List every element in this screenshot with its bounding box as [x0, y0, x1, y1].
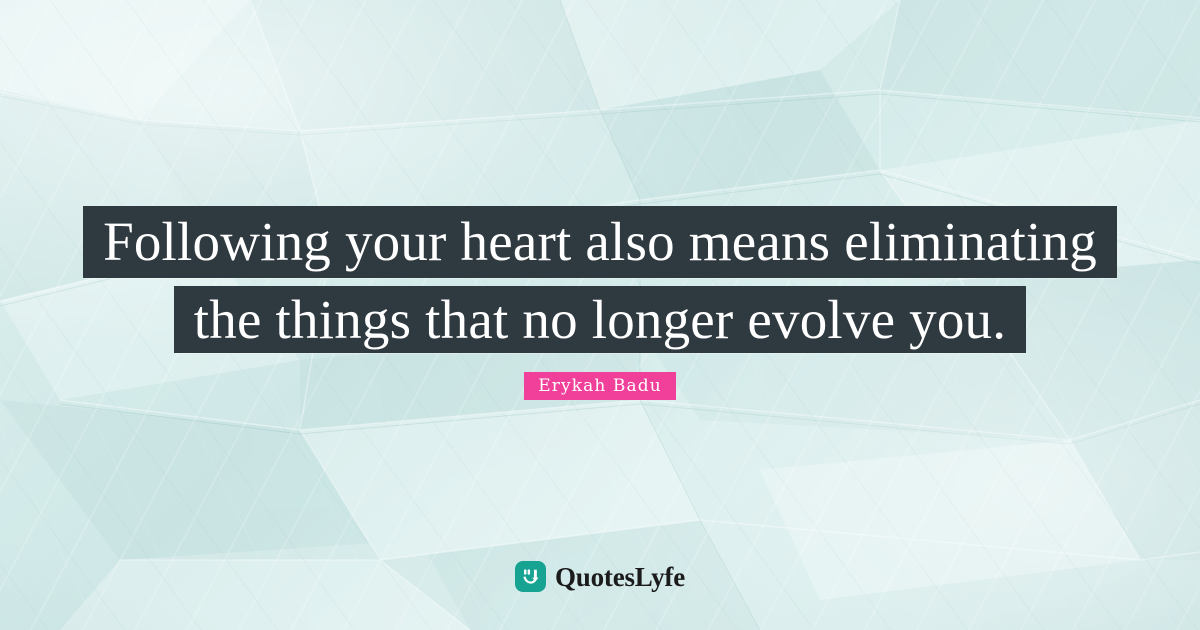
quote-line-1: Following your heart also means eliminat… [0, 206, 1200, 278]
quotes-smiley-logo-icon [515, 561, 546, 592]
quote-line-1-text: Following your heart also means eliminat… [83, 206, 1117, 278]
quote-line-2: the things that no longer evolve you. [0, 286, 1200, 353]
quote-text: Following your heart also means eliminat… [0, 206, 1200, 353]
author-name-badge: Erykah Badu [524, 372, 676, 400]
quote-card: Following your heart also means eliminat… [0, 0, 1200, 630]
author-attribution: Erykah Badu [0, 372, 1200, 400]
brand-logo[interactable]: QuotesLyfe [0, 561, 1200, 592]
brand-name: QuotesLyfe [555, 562, 685, 592]
quote-line-2-text: the things that no longer evolve you. [174, 286, 1026, 353]
